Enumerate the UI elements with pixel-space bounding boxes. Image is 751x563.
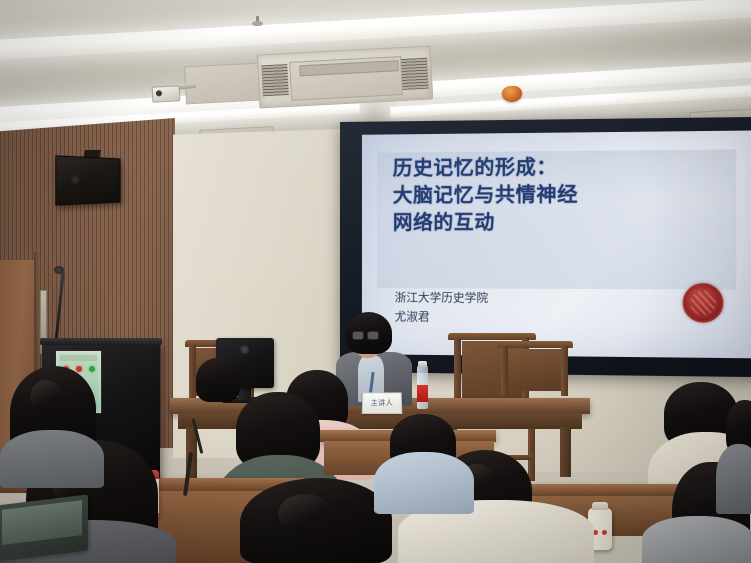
ac-vent-right (401, 58, 428, 89)
chair-post-left (501, 346, 508, 396)
panel-header-row (60, 355, 97, 361)
head-table-leg-right (560, 427, 571, 477)
slide-title-line-2: 大脑记忆与共情神经 (393, 179, 736, 209)
slide-title: 历史记忆的形成： 大脑记忆与共情神经 网络的互动 (393, 151, 736, 236)
chair-back-panel (508, 349, 561, 391)
chair-leg-right (528, 423, 535, 481)
attendee-torso (0, 430, 104, 488)
laptop-on-desk[interactable] (0, 494, 88, 561)
slide-presenter: 尤淑君 (395, 307, 673, 328)
attendee-hair (196, 358, 240, 402)
wall-speaker-icon (55, 155, 120, 205)
chair-post-right (561, 346, 568, 396)
red-seal-stamp-icon (683, 283, 724, 323)
panel-red-indicator-2[interactable] (76, 366, 82, 372)
ac-vent-left (262, 64, 289, 95)
laptop-screen (2, 500, 82, 545)
glasses-icon (352, 331, 378, 339)
hair-highlight (278, 494, 332, 534)
ceiling-ac-cassette-icon (257, 45, 434, 108)
slide-subtitle: 浙江大学历史学院 尤淑君 (395, 289, 673, 329)
chair-post-left (189, 345, 196, 401)
panel-green-indicator[interactable] (89, 366, 95, 372)
fire-sprinkler-icon (252, 16, 263, 29)
attendee-torso (716, 444, 751, 514)
presenter-nameplate: 主讲人 (362, 392, 403, 414)
attendee-torso (374, 452, 474, 514)
hair-highlight (30, 380, 62, 414)
glasses-lens-right (367, 331, 379, 340)
thermos-dot-right (602, 530, 607, 535)
podium-top-edge (40, 338, 162, 345)
water-bottle-cap (418, 361, 427, 367)
attendee-torso (642, 516, 751, 563)
slide-title-line-1: 历史记忆的形成： (393, 151, 736, 182)
projection-screen-surface: 历史记忆的形成： 大脑记忆与共情神经 网络的互动 浙江大学历史学院 尤淑君 (362, 130, 751, 358)
glasses-lens-left (352, 331, 364, 340)
thermos-cap (592, 502, 608, 510)
slide-affiliation: 浙江大学历史学院 (395, 289, 673, 309)
water-bottle-label (417, 385, 428, 402)
slide-title-line-3: 网络的互动 (393, 208, 736, 237)
lecture-hall-screenshot: 历史记忆的形成： 大脑记忆与共情神经 网络的互动 浙江大学历史学院 尤淑君 (0, 0, 751, 563)
ceiling-camera-icon (152, 85, 181, 102)
projection-screen-frame: 历史记忆的形成： 大脑记忆与共情神经 网络的互动 浙江大学历史学院 尤淑君 (340, 117, 751, 377)
nameplate-text: 主讲人 (371, 398, 394, 408)
microphone-head-icon (54, 266, 64, 274)
